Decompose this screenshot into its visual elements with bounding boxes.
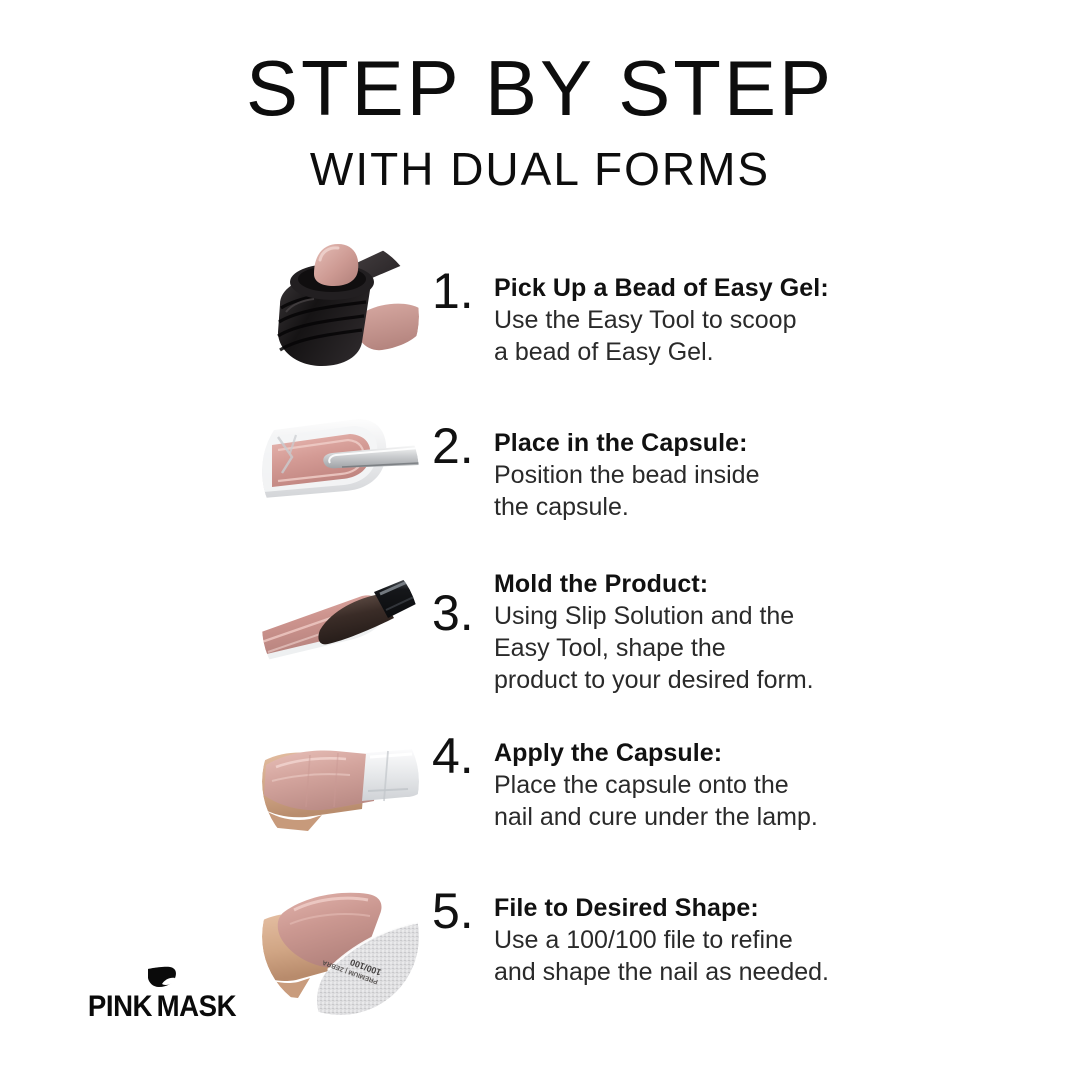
photo-capsule-on-nail	[262, 703, 419, 860]
step-text-2: Place in the Capsule: Position the bead …	[494, 427, 964, 523]
step-number-5: 5.	[432, 886, 488, 936]
step-number-3: 3.	[432, 588, 488, 638]
step-body-3: Using Slip Solution and the Easy Tool, s…	[494, 600, 964, 696]
step-body-line: Use the Easy Tool to scoop	[494, 304, 964, 336]
step-body-4: Place the capsule onto the nail and cure…	[494, 769, 964, 833]
step-title-2: Place in the Capsule:	[494, 427, 964, 459]
step-body-2: Position the bead inside the capsule.	[494, 459, 964, 523]
steps-list: 1. Pick Up a Bead of Easy Gel: Use the E…	[0, 238, 1080, 1013]
step-body-line: nail and cure under the lamp.	[494, 801, 964, 833]
step-item-1: 1. Pick Up a Bead of Easy Gel: Use the E…	[0, 238, 1080, 393]
photo-bead-in-capsule	[262, 393, 419, 550]
step-item-4: 4. Apply the Capsule: Place the capsule …	[0, 703, 1080, 858]
step-title-1: Pick Up a Bead of Easy Gel:	[494, 272, 964, 304]
step-body-line: Place the capsule onto the	[494, 769, 964, 801]
step-body-line: product to your desired form.	[494, 664, 964, 696]
step-body-line: Easy Tool, shape the	[494, 632, 964, 664]
step-title-3: Mold the Product:	[494, 568, 964, 600]
header: STEP BY STEP WITH DUAL FORMS	[0, 46, 1080, 196]
photo-brush-molding-product	[262, 548, 419, 705]
step-text-1: Pick Up a Bead of Easy Gel: Use the Easy…	[494, 272, 964, 368]
step-text-3: Mold the Product: Using Slip Solution an…	[494, 568, 964, 696]
page-subtitle: WITH DUAL FORMS	[0, 142, 1080, 196]
leaf-icon	[146, 966, 178, 990]
step-body-line: and shape the nail as needed.	[494, 956, 964, 988]
step-item-3: 3. Mold the Product: Using Slip Solution…	[0, 548, 1080, 703]
step-number-4: 4.	[432, 731, 488, 781]
step-body-line: the capsule.	[494, 491, 964, 523]
step-number-2: 2.	[432, 421, 488, 471]
photo-filing-nail: 100/100 PREMIUM | ZEBRA	[262, 858, 419, 1015]
page-title: STEP BY STEP	[0, 46, 1080, 130]
brand-name-part-2: MASK	[157, 990, 236, 1023]
step-title-5: File to Desired Shape:	[494, 892, 964, 924]
step-body-line: a bead of Easy Gel.	[494, 336, 964, 368]
brand-name: PINKMASK	[79, 992, 245, 1022]
step-item-2: 2. Place in the Capsule: Position the be…	[0, 393, 1080, 548]
step-title-4: Apply the Capsule:	[494, 737, 964, 769]
step-text-4: Apply the Capsule: Place the capsule ont…	[494, 737, 964, 833]
step-body-1: Use the Easy Tool to scoop a bead of Eas…	[494, 304, 964, 368]
infographic-canvas: STEP BY STEP WITH DUAL FORMS	[0, 0, 1080, 1080]
step-body-line: Use a 100/100 file to refine	[494, 924, 964, 956]
photo-gel-bottle-with-bead	[262, 238, 419, 395]
step-body-5: Use a 100/100 file to refine and shape t…	[494, 924, 964, 988]
brand-name-part-1: PINK	[88, 990, 152, 1023]
step-text-5: File to Desired Shape: Use a 100/100 fil…	[494, 892, 964, 988]
step-body-line: Using Slip Solution and the	[494, 600, 964, 632]
step-number-1: 1.	[432, 266, 488, 316]
brand-logo: PINKMASK	[72, 966, 252, 1022]
step-body-line: Position the bead inside	[494, 459, 964, 491]
